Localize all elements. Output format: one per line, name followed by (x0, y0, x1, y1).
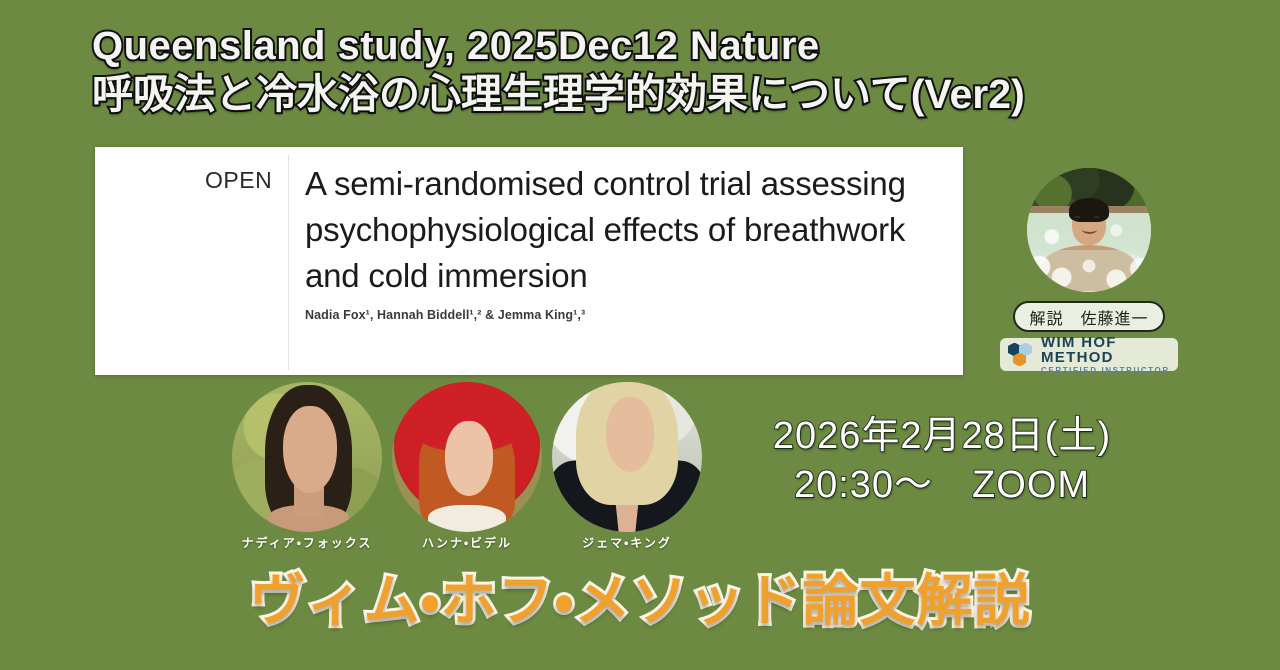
event-date: 2026年2月28日(土) (752, 412, 1132, 461)
face (606, 397, 654, 472)
author-caption: ジェマ・キング (552, 534, 702, 551)
author-photo-jemma-king (552, 382, 702, 532)
author-item: ハンナ・ビデル (392, 382, 542, 551)
author-photo-nadia-fox (232, 382, 382, 532)
presenter-name-pill: 解説 佐藤進一 (1013, 301, 1165, 332)
headline-block: Queensland study, 2025Dec12 Nature 呼吸法と冷… (92, 22, 1212, 118)
flyer-canvas: Queensland study, 2025Dec12 Nature 呼吸法と冷… (0, 0, 1280, 670)
headline-line-2: 呼吸法と冷水浴の心理生理学的効果について(Ver2) (92, 70, 1212, 118)
banner-title: ヴィム・ホフ・メソッド論文解説 (249, 556, 1030, 637)
headline-line-1: Queensland study, 2025Dec12 Nature (92, 22, 1212, 70)
paper-body: A semi-randomised control trial assessin… (305, 161, 925, 322)
open-access-label: OPEN (205, 167, 272, 194)
author-caption: ハンナ・ビデル (392, 534, 542, 551)
hair (1069, 198, 1109, 222)
author-item: ナディア・フォックス (232, 382, 382, 551)
paper-title: A semi-randomised control trial assessin… (305, 161, 925, 299)
badge-title: WIM HOF METHOD (1041, 335, 1178, 365)
smile (1082, 225, 1097, 234)
event-time-platform: 20:30〜 ZOOM (752, 461, 1132, 510)
shirt (428, 505, 506, 532)
paper-card: OPEN A semi-randomised control trial ass… (95, 147, 963, 375)
badge-text: WIM HOF METHOD CERTIFIED INSTRUCTOR (1041, 335, 1178, 375)
badge-subtitle: CERTIFIED INSTRUCTOR (1041, 367, 1178, 375)
schedule-block: 2026年2月28日(土) 20:30〜 ZOOM (752, 412, 1132, 510)
author-item: ジェマ・キング (552, 382, 702, 551)
hexagon-logo-icon (1008, 343, 1034, 367)
instructor-block: 解説 佐藤進一 WIM HOF METHOD CERTIFIED INSTRUC… (1000, 168, 1178, 371)
instructor-photo (1027, 168, 1151, 292)
ice-foam (1027, 250, 1151, 292)
author-caption: ナディア・フォックス (232, 534, 382, 551)
paper-divider (288, 155, 289, 370)
author-photo-hannah-biddell (392, 382, 542, 532)
bottom-banner: ヴィム・ホフ・メソッド論文解説 (0, 556, 1280, 637)
face (445, 421, 493, 496)
face (283, 406, 337, 493)
author-portraits-row: ナディア・フォックス ハンナ・ビデル ジェマ・キング (232, 382, 702, 551)
paper-authors: Nadia Fox¹, Hannah Biddell¹,² & Jemma Ki… (305, 308, 925, 322)
wim-hof-method-badge: WIM HOF METHOD CERTIFIED INSTRUCTOR (1000, 338, 1178, 371)
